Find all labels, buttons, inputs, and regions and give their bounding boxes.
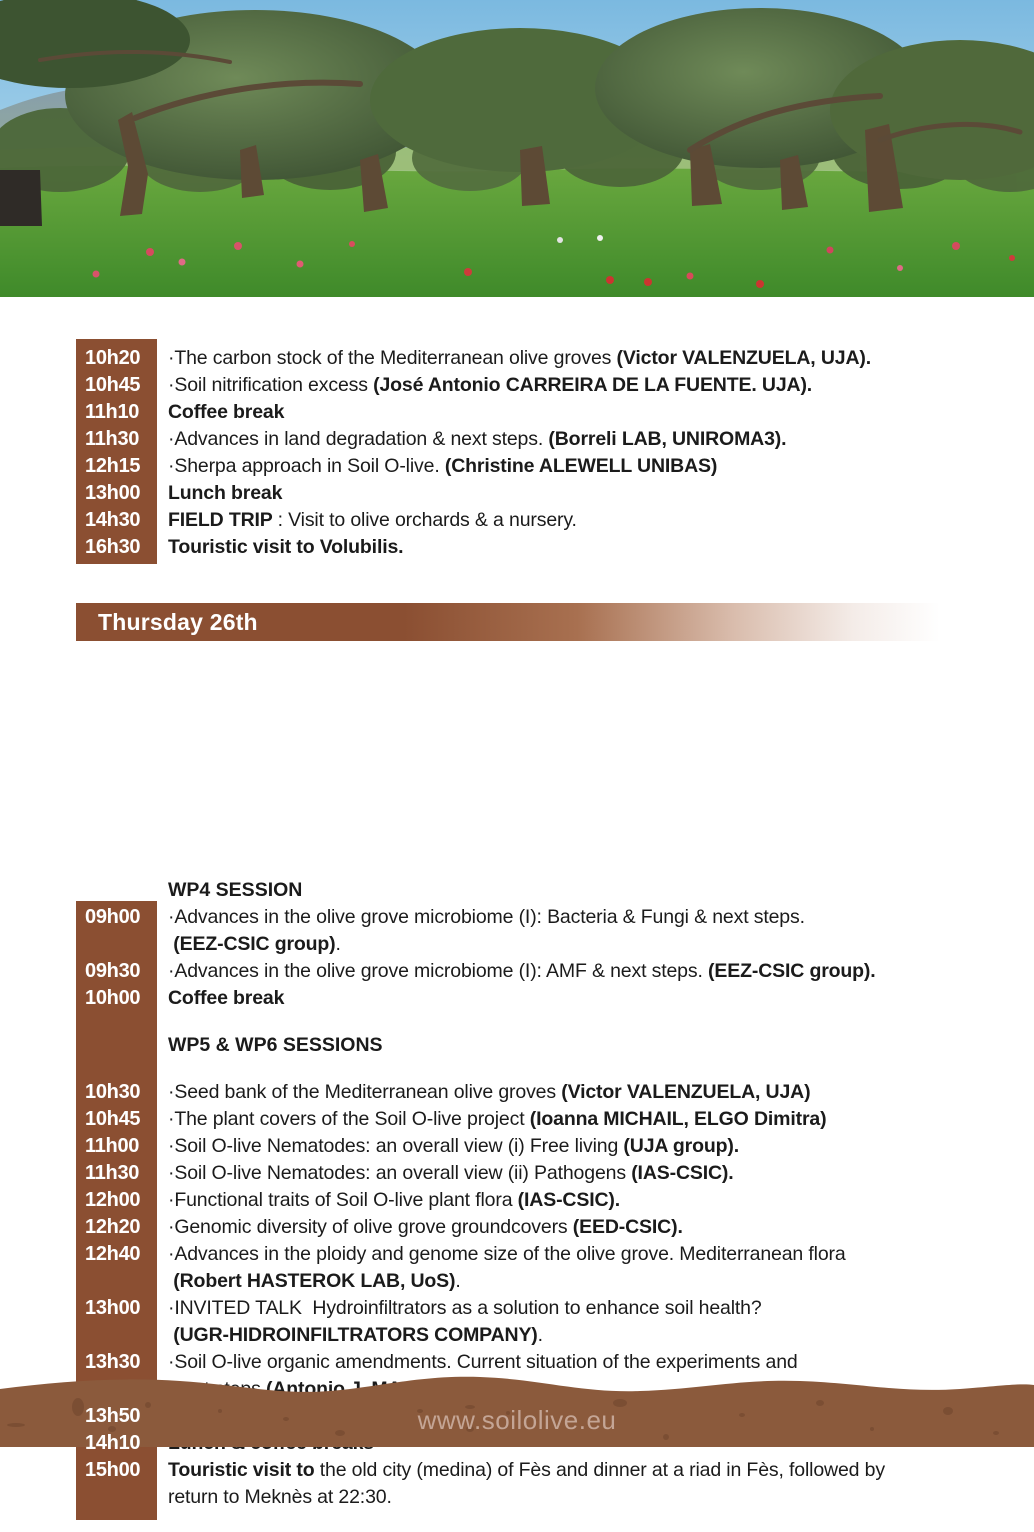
agenda-time: 12h00 [76, 1187, 157, 1214]
agenda-time: 09h00 [76, 904, 157, 931]
agenda-row: 16h30Touristic visit to Volubilis. [76, 534, 1034, 561]
agenda-affiliation: (Ioanna MICHAIL, ELGO Dimitra) [530, 1108, 827, 1130]
agenda-emphasis: FIELD TRIP [168, 509, 278, 531]
agenda-description: (UGR-HIDROINFILTRATORS COMPANY). [157, 1322, 1034, 1349]
blank-line [157, 1511, 1034, 1531]
agenda-row: 14h30FIELD TRIP : Visit to olive orchard… [76, 507, 1034, 534]
bullet-icon: · [168, 1135, 174, 1157]
agenda-description: Touristic visit to the old city (medina)… [157, 1457, 1034, 1484]
agenda-row: 13h00·INVITED TALK Hydroinfiltrators as … [76, 1295, 1034, 1322]
row-spacer-2 [76, 1059, 1034, 1079]
agenda-time: 10h20 [76, 345, 157, 372]
agenda-rows-thursday-a: 09h00·Advances in the olive grove microb… [76, 904, 1034, 1012]
agenda-time: 12h40 [76, 1241, 157, 1268]
agenda-description: ·Advances in the ploidy and genome size … [157, 1241, 1034, 1268]
agenda-description: ·INVITED TALK Hydroinfiltrators as a sol… [157, 1295, 1034, 1322]
agenda-row: (UGR-HIDROINFILTRATORS COMPANY). [76, 1322, 1034, 1349]
agenda-description: Coffee break [157, 399, 1034, 426]
session-header-row-wp4: WP4 SESSION [76, 877, 1034, 904]
agenda-description: ·Sherpa approach in Soil O-live. (Christ… [157, 453, 1034, 480]
agenda-affiliation: (Victor VALENZUELA, UJA) [561, 1081, 810, 1103]
agenda-row: 11h30·Advances in land degradation & nex… [76, 426, 1034, 453]
agenda-description: ·Soil nitrification excess (José Antonio… [157, 372, 1034, 399]
agenda-affiliation: (Borreli LAB, UNIROMA3). [548, 428, 786, 450]
agenda-description: return to Meknès at 22:30. [157, 1484, 1034, 1511]
agenda-affiliation: (IAS-CSIC). [518, 1189, 620, 1211]
agenda-time: 09h30 [76, 958, 157, 985]
agenda-row: (Robert HASTEROK LAB, UoS). [76, 1268, 1034, 1295]
agenda-time: 12h20 [76, 1214, 157, 1241]
agenda-description: Lunch break [157, 480, 1034, 507]
olive-grove-illustration [0, 0, 1034, 297]
time-spacer [76, 877, 157, 904]
time-spacer [76, 1511, 157, 1531]
agenda-affiliation: (Victor VALENZUELA, UJA). [617, 347, 871, 369]
time-spacer [76, 1268, 157, 1295]
agenda-description: ·Soil O-live Nematodes: an overall view … [157, 1160, 1034, 1187]
agenda-row: 15h00Touristic visit to the old city (me… [76, 1457, 1034, 1484]
agenda-row: 09h30·Advances in the olive grove microb… [76, 958, 1034, 985]
session-header-row-wp56: WP5 & WP6 SESSIONS [76, 1032, 1034, 1059]
blank-line [157, 1059, 1034, 1079]
day-banner-label: Thursday 26th [76, 609, 258, 636]
agenda-description: ·The carbon stock of the Mediterranean o… [157, 345, 1034, 372]
bullet-icon: · [168, 1108, 174, 1130]
agenda-affiliation: (EED-CSIC). [573, 1216, 683, 1238]
agenda-description: ·Functional traits of Soil O-live plant … [157, 1187, 1034, 1214]
agenda-description: ·Advances in the olive grove microbiome … [157, 904, 1034, 931]
agenda-emphasis: Touristic visit to [168, 1459, 320, 1481]
bullet-icon: · [168, 906, 174, 928]
bullet-icon: · [168, 1243, 174, 1265]
session-header-wp4: WP4 SESSION [157, 877, 302, 904]
agenda-row: 09h00·Advances in the olive grove microb… [76, 904, 1034, 931]
agenda-row: 11h00·Soil O-live Nematodes: an overall … [76, 1133, 1034, 1160]
agenda-row: 10h45·Soil nitrification excess (José An… [76, 372, 1034, 399]
agenda-description: Touristic visit to Volubilis. [157, 534, 1034, 561]
row-spacer-3 [76, 1511, 1034, 1531]
bullet-icon: · [168, 960, 174, 982]
agenda-emphasis: (Robert HASTEROK LAB, UoS) [168, 1270, 455, 1292]
agenda-time: 11h30 [76, 426, 157, 453]
agenda-row: 11h30·Soil O-live Nematodes: an overall … [76, 1160, 1034, 1187]
agenda-time: 14h30 [76, 507, 157, 534]
agenda-row: 10h00Coffee break [76, 985, 1034, 1012]
agenda-time: 11h30 [76, 1160, 157, 1187]
agenda-time: 12h15 [76, 453, 157, 480]
agenda-affiliation: (IAS-CSIC). [631, 1162, 733, 1184]
agenda-emphasis: (EEZ-CSIC group) [168, 933, 336, 955]
agenda-row: 10h45·The plant covers of the Soil O-liv… [76, 1106, 1034, 1133]
agenda-time: 13h00 [76, 1295, 157, 1322]
agenda-row: 12h20·Genomic diversity of olive grove g… [76, 1214, 1034, 1241]
bullet-icon: · [168, 1216, 174, 1238]
agenda-affiliation: (EEZ-CSIC group). [708, 960, 876, 982]
time-spacer [76, 931, 157, 958]
agenda-description: ·Advances in the olive grove microbiome … [157, 958, 1034, 985]
agenda-row: 10h20·The carbon stock of the Mediterran… [76, 345, 1034, 372]
agenda-description: ·Advances in land degradation & next ste… [157, 426, 1034, 453]
agenda-time: 10h45 [76, 1106, 157, 1133]
bullet-icon: · [168, 1297, 174, 1319]
blank-line [157, 1012, 1034, 1032]
session-header-wp5-wp6: WP5 & WP6 SESSIONS [157, 1032, 383, 1059]
agenda-description: Coffee break [157, 985, 1034, 1012]
header-photo-olive-grove [0, 0, 1034, 297]
agenda-row: 11h10Coffee break [76, 399, 1034, 426]
agenda-time: 13h50 [76, 1403, 157, 1430]
agenda-section-wednesday: 10h20·The carbon stock of the Mediterran… [0, 345, 1034, 561]
time-spacer [76, 1032, 157, 1059]
agenda-time: 13h00 [76, 480, 157, 507]
day-banner-thursday: Thursday 26th [76, 603, 940, 641]
agenda-time: 16h30 [76, 534, 157, 561]
agenda-row: 13h00Lunch break [76, 480, 1034, 507]
agenda-description: ·Seed bank of the Mediterranean olive gr… [157, 1079, 1034, 1106]
bullet-icon: · [168, 1189, 174, 1211]
time-spacer [76, 1376, 157, 1403]
time-spacer [76, 1484, 157, 1511]
agenda-time: 10h45 [76, 372, 157, 399]
agenda-time: 14h10 [76, 1430, 157, 1457]
agenda-time: 11h10 [76, 399, 157, 426]
bullet-icon: · [168, 374, 174, 396]
time-spacer [76, 1322, 157, 1349]
agenda-emphasis: (UGR-HIDROINFILTRATORS COMPANY) [168, 1324, 538, 1346]
agenda-affiliation: (José Antonio CARREIRA DE LA FUENTE. UJA… [373, 374, 812, 396]
agenda-description: (Robert HASTEROK LAB, UoS). [157, 1268, 1034, 1295]
agenda-row: 12h40·Advances in the ploidy and genome … [76, 1241, 1034, 1268]
time-spacer [76, 1059, 157, 1079]
agenda-affiliation: (UJA group). [623, 1135, 739, 1157]
bullet-icon: · [168, 455, 174, 477]
agenda-time: 10h30 [76, 1079, 157, 1106]
time-spacer [76, 1012, 157, 1032]
agenda-time: 10h00 [76, 985, 157, 1012]
agenda-time: 13h30 [76, 1349, 157, 1376]
agenda-row: 12h15·Sherpa approach in Soil O-live. (C… [76, 453, 1034, 480]
bullet-icon: · [168, 428, 174, 450]
agenda-time: 11h00 [76, 1133, 157, 1160]
agenda-affiliation: (Christine ALEWELL UNIBAS) [445, 455, 717, 477]
agenda-rows-wednesday: 10h20·The carbon stock of the Mediterran… [76, 345, 1034, 561]
bullet-icon: · [168, 347, 174, 369]
agenda-description: FIELD TRIP : Visit to olive orchards & a… [157, 507, 1034, 534]
agenda-description: ·Genomic diversity of olive grove ground… [157, 1214, 1034, 1241]
row-spacer-1 [76, 1012, 1034, 1032]
agenda-description: (EEZ-CSIC group). [157, 931, 1034, 958]
agenda-row: (EEZ-CSIC group). [76, 931, 1034, 958]
agenda-row: return to Meknès at 22:30. [76, 1484, 1034, 1511]
agenda-row: 12h00·Functional traits of Soil O-live p… [76, 1187, 1034, 1214]
agenda-row: 10h30·Seed bank of the Mediterranean oli… [76, 1079, 1034, 1106]
bullet-icon: · [168, 1162, 174, 1184]
bullet-icon: · [168, 1081, 174, 1103]
agenda-time: 15h00 [76, 1457, 157, 1484]
agenda-description: ·Soil O-live Nematodes: an overall view … [157, 1133, 1034, 1160]
agenda-description: ·The plant covers of the Soil O-live pro… [157, 1106, 1034, 1133]
